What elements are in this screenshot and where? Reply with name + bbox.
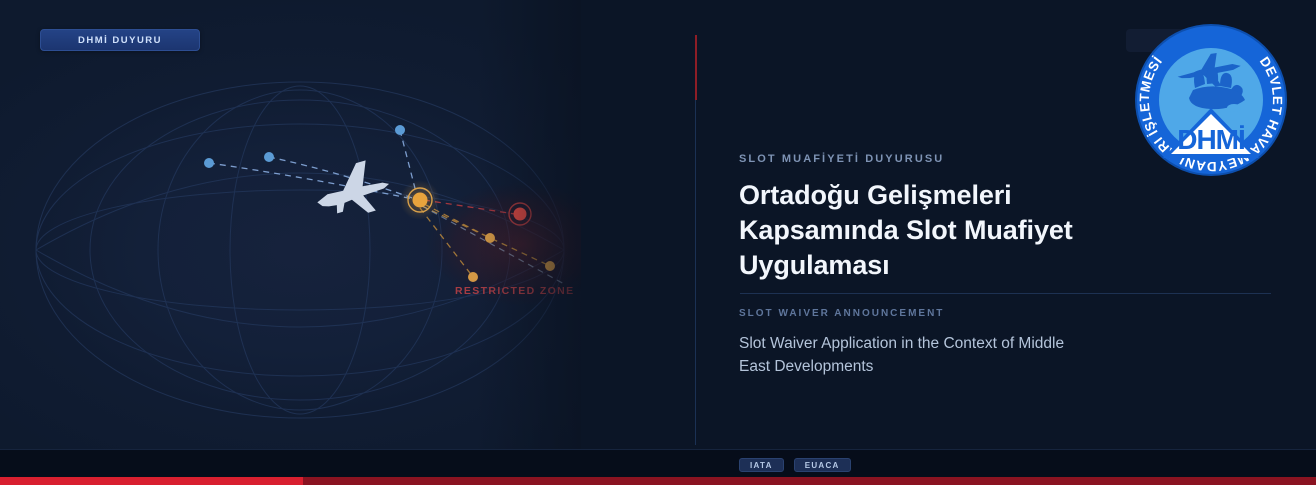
announcement-badge-pill[interactable]: DHMİ DUYURU [40, 29, 200, 51]
announcement-slide: RESTRICTED ZONE DHMİ DUYURU SLOT MUAFİYE… [0, 0, 1316, 485]
restricted-zone-label: RESTRICTED ZONE [455, 285, 574, 297]
headline-turkish: Ortadoğu Gelişmeleri Kapsamında Slot Mua… [739, 178, 1139, 283]
progress-fill [0, 477, 303, 485]
illustration-panel: RESTRICTED ZONE [0, 0, 581, 449]
dhmi-logo: DEVLET HAVA MEYDANLARI İŞLETMESİ DHMİ [1133, 22, 1289, 178]
subheadline-english: Slot Waiver Application in the Context o… [739, 332, 1099, 378]
flight-routes [0, 0, 581, 449]
announcement-badge-label: DHMİ DUYURU [78, 35, 162, 46]
affiliation-badges: IATA EUACA [739, 458, 851, 472]
progress-track[interactable] [0, 477, 1316, 485]
kicker-turkish: SLOT MUAFİYETİ DUYURUSU [739, 153, 944, 165]
accent-rule-red [695, 35, 697, 100]
badge-euaca-label: EUACA [805, 461, 840, 470]
content-divider [740, 293, 1271, 294]
badge-iata-label: IATA [750, 461, 773, 470]
footer-bar: IATA EUACA [0, 449, 1316, 477]
logo-monogram: DHMİ [1177, 124, 1245, 155]
badge-euaca[interactable]: EUACA [794, 458, 851, 472]
airplane-icon [310, 156, 395, 225]
accent-rule-blue [695, 100, 696, 445]
badge-iata[interactable]: IATA [739, 458, 784, 472]
kicker-english: SLOT WAIVER ANNOUNCEMENT [739, 308, 944, 319]
